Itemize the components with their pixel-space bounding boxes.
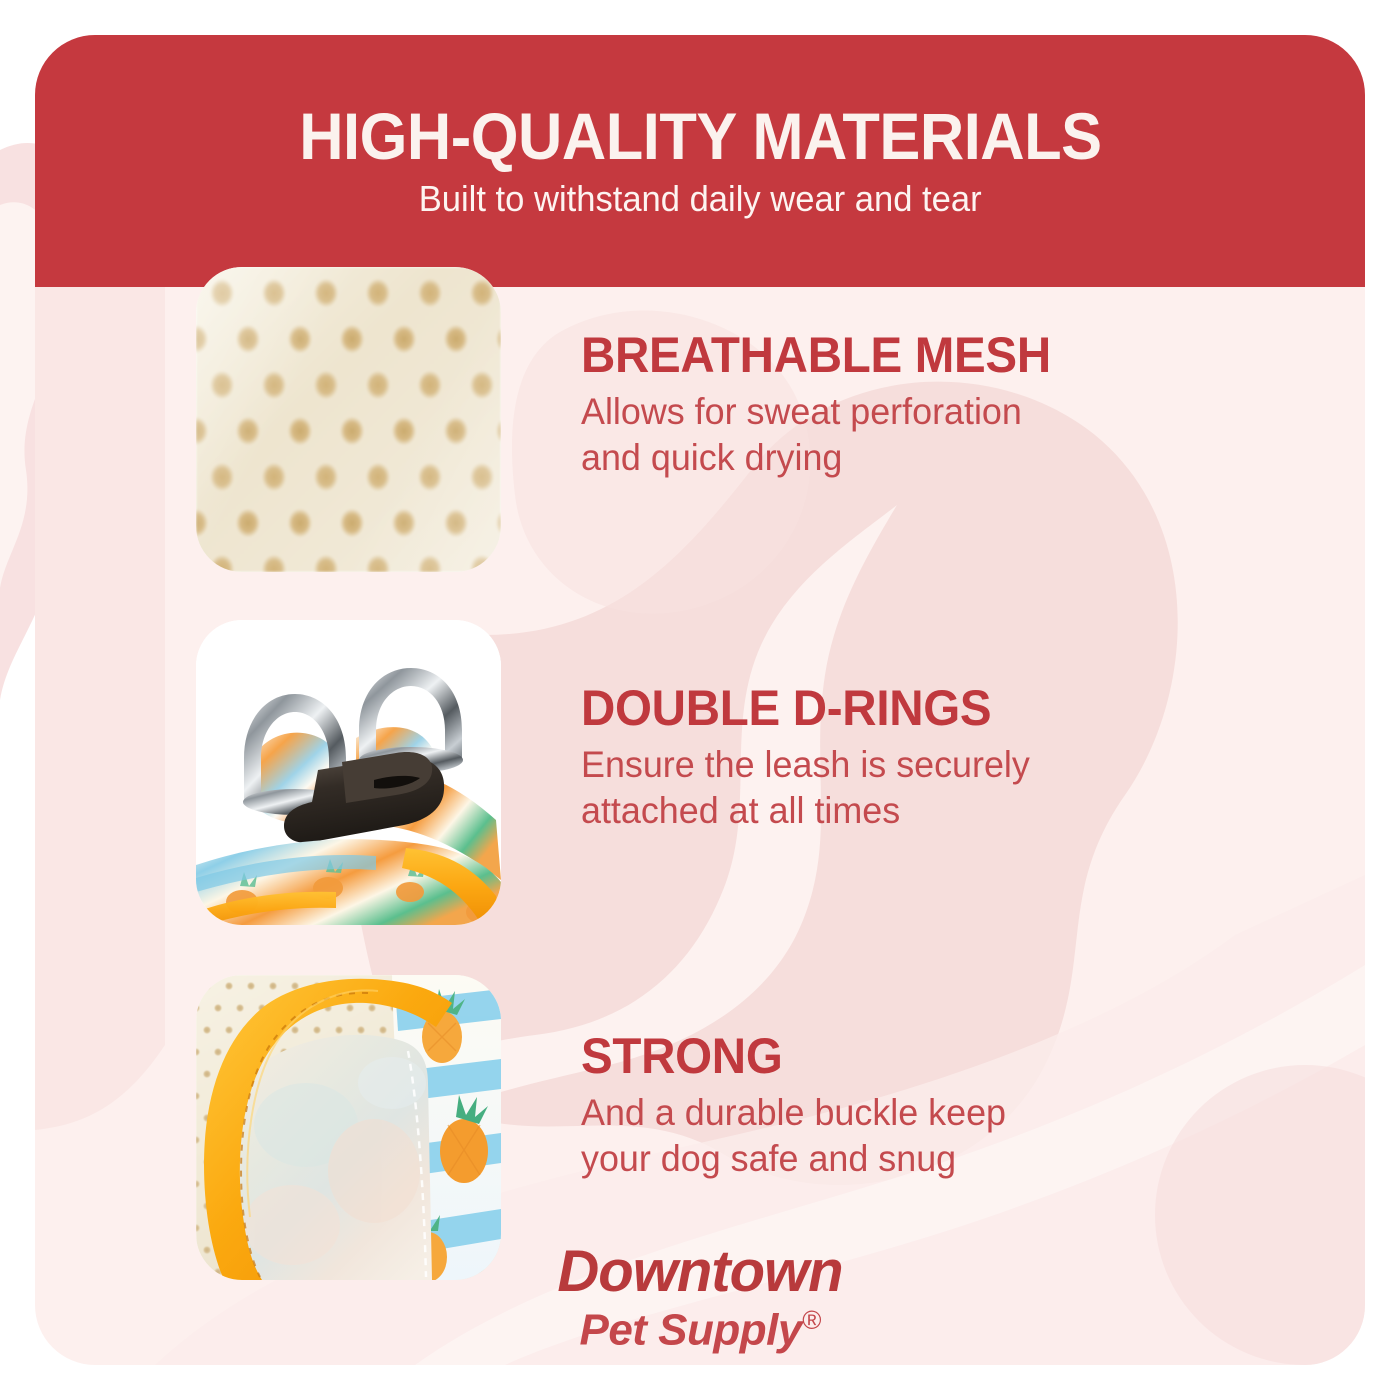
feature-heading: BREATHABLE MESH [581, 329, 1189, 381]
feature-heading: DOUBLE D-RINGS [581, 682, 1189, 734]
page-subtitle: Built to withstand daily wear and tear [419, 179, 982, 219]
feature-row-double-d-rings: DOUBLE D-RINGS Ensure the leash is secur… [196, 620, 1221, 925]
feature-body-line2: and quick drying [581, 437, 842, 478]
feature-body-line2: attached at all times [581, 790, 900, 831]
feature-body: And a durable buckle keep your dog safe … [581, 1090, 1202, 1182]
feature-row-strong: STRONG And a durable buckle keep your do… [196, 975, 1221, 1280]
logo-line-downtown: Downtown [0, 1243, 1400, 1301]
double-d-rings-photo [196, 620, 501, 925]
feature-body-line1: Allows for sweat perforation [581, 391, 1022, 432]
feature-body: Ensure the leash is securely attached at… [581, 742, 1202, 834]
logo-pet-supply-text: Pet Supply [579, 1306, 801, 1355]
feature-body: Allows for sweat perforation and quick d… [581, 389, 1202, 481]
page-title: HIGH-QUALITY MATERIALS [299, 103, 1101, 169]
registered-trademark-icon: ® [802, 1305, 821, 1335]
header-banner: HIGH-QUALITY MATERIALS Built to withstan… [35, 35, 1365, 287]
logo-line-pet-supply: Pet Supply® [0, 1307, 1400, 1353]
strong-buckle-photo [196, 975, 501, 1280]
feature-body-line1: Ensure the leash is securely [581, 744, 1030, 785]
breathable-mesh-photo [196, 267, 501, 572]
feature-body-line1: And a durable buckle keep [581, 1092, 1006, 1133]
feature-row-breathable-mesh: BREATHABLE MESH Allows for sweat perfora… [196, 267, 1221, 572]
brand-logo: Downtown Pet Supply® [0, 1243, 1400, 1353]
infographic-canvas: HIGH-QUALITY MATERIALS Built to withstan… [0, 0, 1400, 1400]
feature-body-line2: your dog safe and snug [581, 1138, 956, 1179]
feature-heading: STRONG [581, 1030, 1189, 1082]
mesh-highlight [196, 267, 501, 572]
